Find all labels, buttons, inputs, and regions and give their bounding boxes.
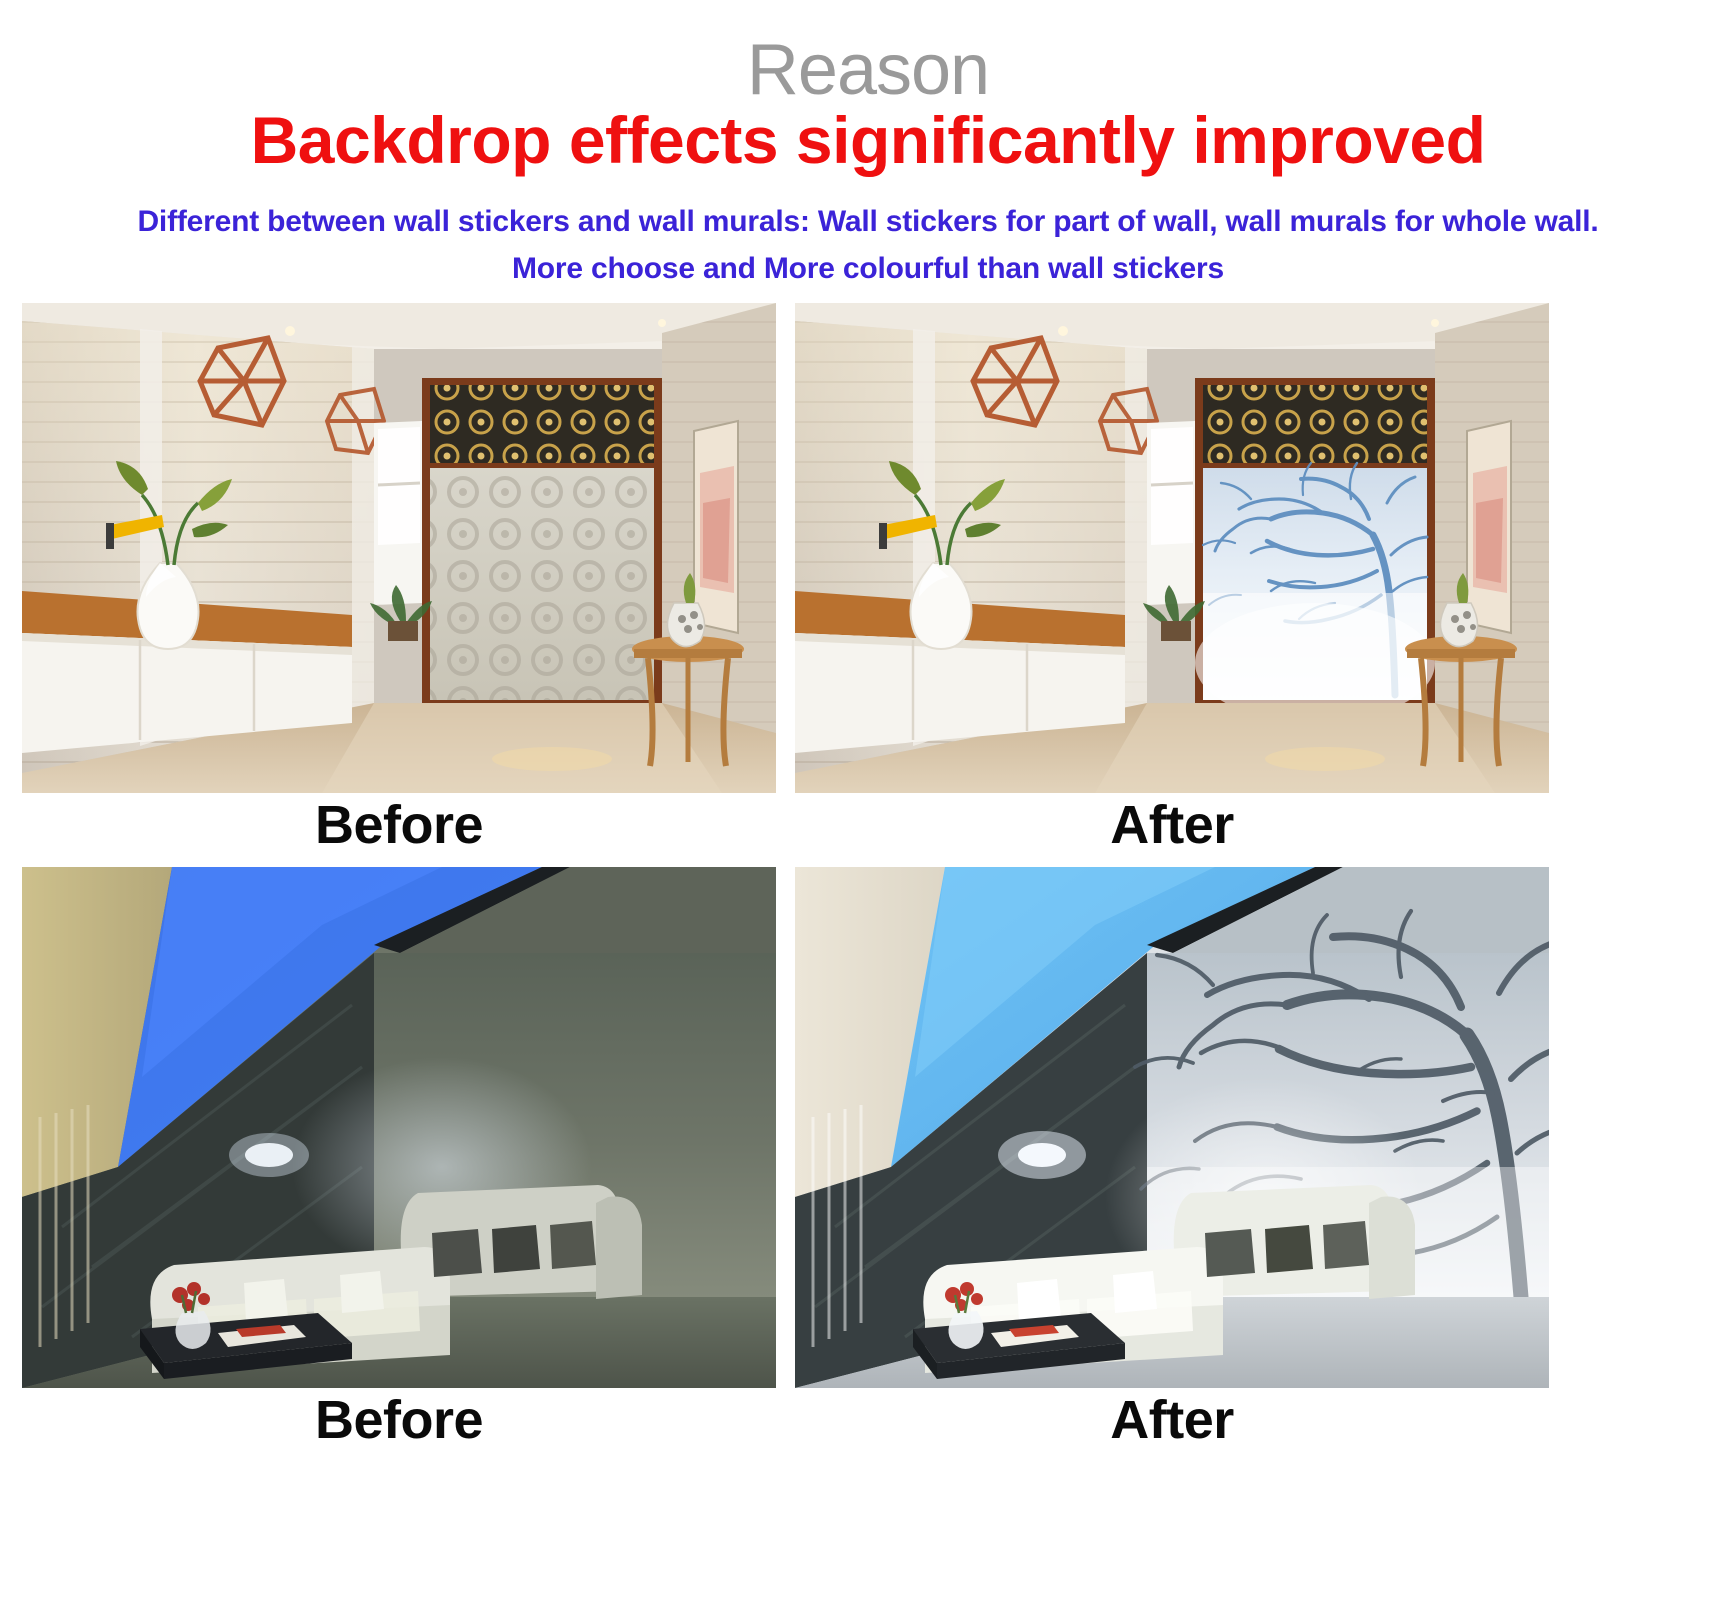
- scene-living-room-before: [22, 867, 776, 1388]
- subtitle-line-2: More choose and More colourful than wall…: [0, 252, 1736, 286]
- subtitle-line-1: Different between wall stickers and wall…: [0, 205, 1736, 239]
- scene-hallway-after: [795, 303, 1549, 793]
- comparison-image-before-living-room: [22, 867, 776, 1388]
- eyebrow-title: Reason: [0, 34, 1736, 106]
- caption-before-hallway: Before: [22, 798, 776, 852]
- caption-after-hallway: After: [795, 798, 1549, 852]
- header: Reason Backdrop effects significantly im…: [0, 0, 1736, 300]
- scene-living-room-after: [795, 867, 1549, 1388]
- scene-hallway-before: [22, 303, 776, 793]
- comparison-image-after-living-room: [795, 867, 1549, 1388]
- page-title: Backdrop effects significantly improved: [0, 104, 1736, 177]
- comparison-image-after-hallway: [795, 303, 1549, 793]
- comparison-image-before-hallway: [22, 303, 776, 793]
- caption-after-living-room: After: [795, 1393, 1549, 1447]
- caption-before-living-room: Before: [22, 1393, 776, 1447]
